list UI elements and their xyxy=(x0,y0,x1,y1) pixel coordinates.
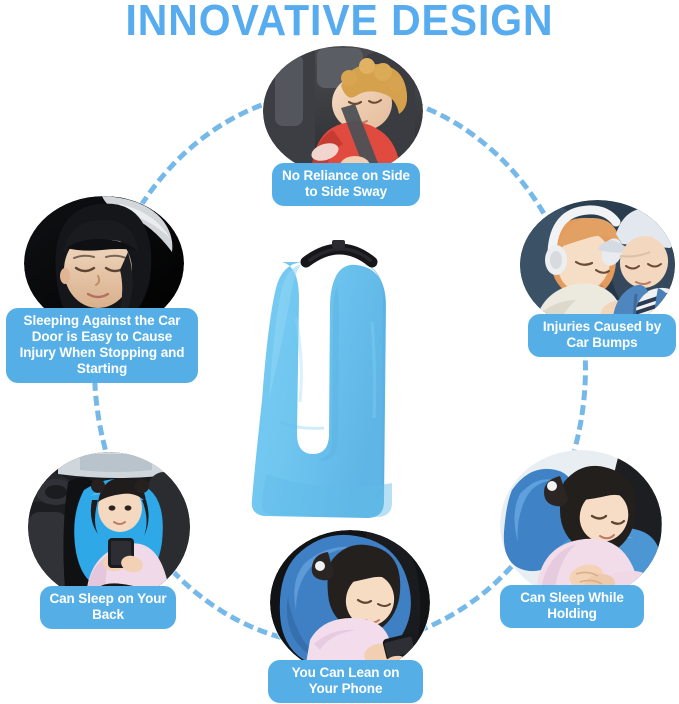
photo-two-kids-heads-colliding-image xyxy=(520,200,675,330)
feature-label-left: Sleeping Against the Car Door is Easy to… xyxy=(6,308,198,383)
feature-label-bottom-right: Can Sleep While Holding xyxy=(500,585,644,628)
page-title: INNOVATIVE DESIGN xyxy=(24,0,655,44)
photo-girl-leaning-on-pillow-with-phone-image xyxy=(270,530,430,675)
photo-girl-hugging-pillow xyxy=(500,450,662,600)
feature-label-bottom-left: Can Sleep on Your Back xyxy=(40,586,176,629)
feature-label-bottom-center: You Can Lean on Your Phone xyxy=(268,660,423,703)
photo-two-kids-heads-colliding xyxy=(520,200,675,330)
product-image-travel-pillow xyxy=(240,222,440,522)
photo-child-sleeping-in-car-seat-image xyxy=(263,46,423,176)
photo-girl-hugging-pillow-image xyxy=(500,450,662,600)
photo-child-sleeping-in-car-seat xyxy=(263,46,423,176)
photo-girl-leaning-on-pillow-with-phone xyxy=(270,530,430,675)
product-feature-poster: INNOVATIVE DESIGN xyxy=(0,0,679,704)
photo-girl-reclining-on-pillow-image xyxy=(28,452,190,602)
feature-label-right: Injuries Caused by Car Bumps xyxy=(528,314,676,357)
photo-girl-reclining-on-pillow xyxy=(28,452,190,602)
feature-label-top: No Reliance on Side to Side Sway xyxy=(272,163,420,206)
